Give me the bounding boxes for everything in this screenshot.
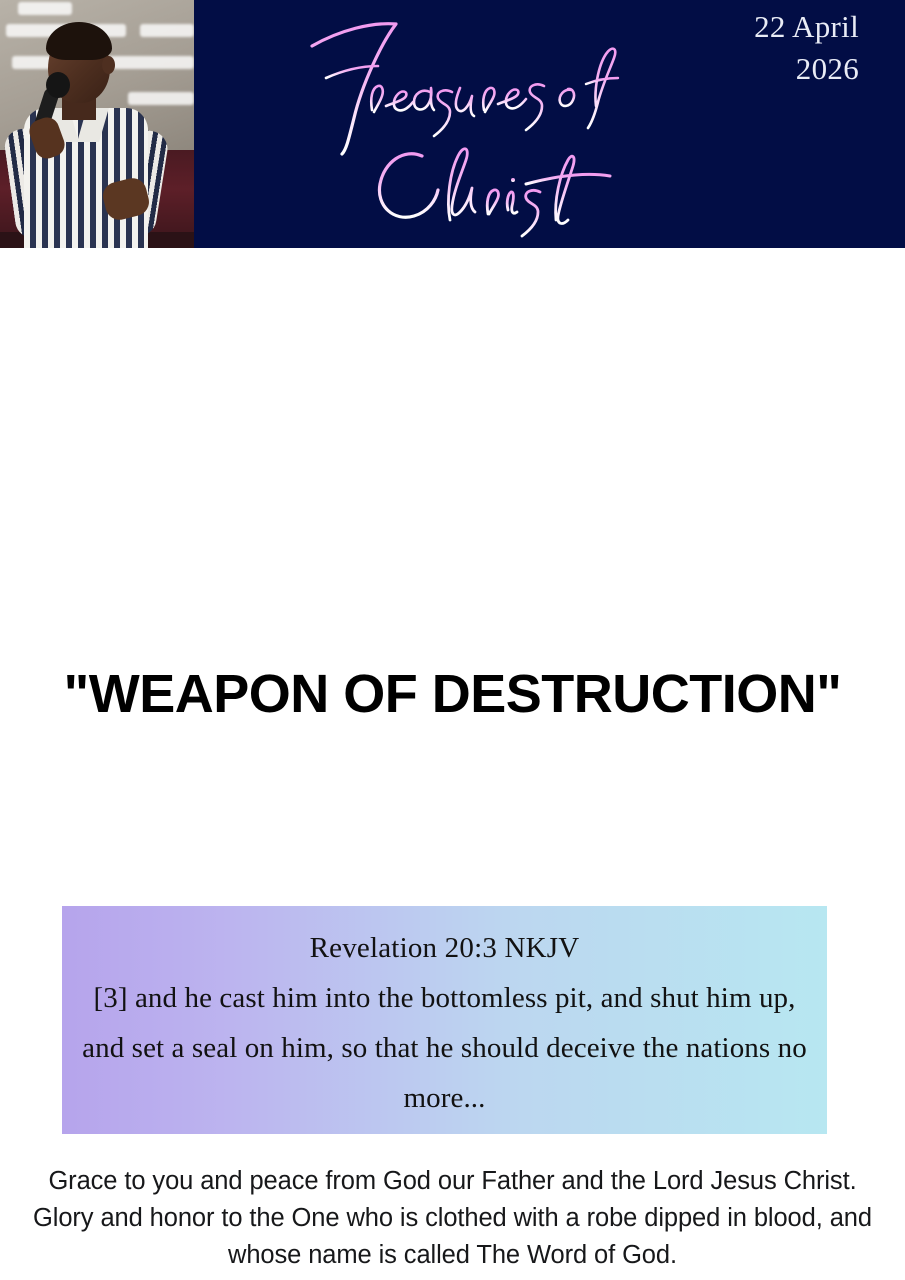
- speaker-photo: [0, 0, 194, 248]
- scripture-text: [3] and he cast him into the bottomless …: [78, 973, 811, 1123]
- screen-text-line: [128, 92, 194, 105]
- microphone-head: [46, 72, 70, 98]
- header-banner: 22 April 2026: [0, 0, 905, 248]
- screen-text-line: [18, 2, 72, 15]
- scripture-box: Revelation 20:3 NKJV [3] and he cast him…: [62, 906, 827, 1134]
- logo-script-icon: [300, 14, 650, 242]
- event-date-year: 2026: [619, 48, 859, 90]
- sermon-title: "WEAPON OF DESTRUCTION": [0, 663, 905, 725]
- closing-paragraph: Grace to you and peace from God our Fath…: [16, 1163, 889, 1274]
- event-date: 22 April 2026: [619, 6, 859, 90]
- flyer-page: 22 April 2026 "WEAPON OF DESTRUCTION" Re…: [0, 0, 905, 1280]
- event-date-day-month: 22 April: [619, 6, 859, 48]
- treasures-of-christ-logo: [300, 14, 650, 242]
- scripture-reference: Revelation 20:3 NKJV: [78, 924, 811, 973]
- speaker-ear: [102, 56, 115, 74]
- screen-text-line: [140, 24, 194, 37]
